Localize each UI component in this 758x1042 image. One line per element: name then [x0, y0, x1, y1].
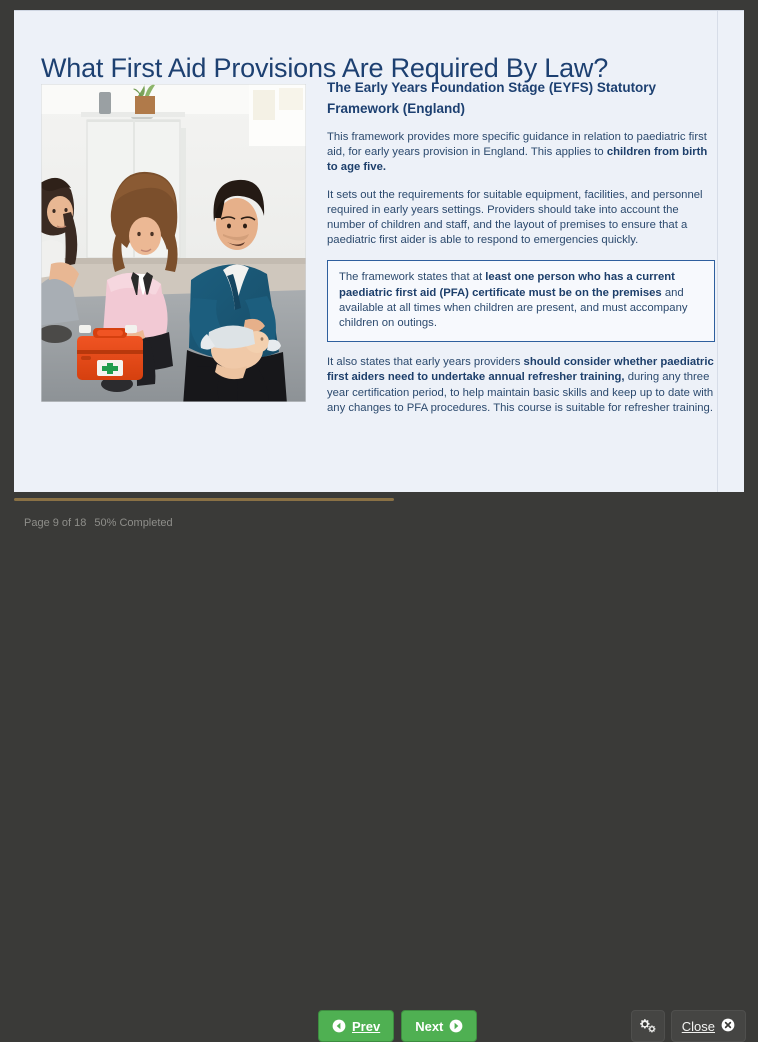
section-subheading: The Early Years Foundation Stage (EYFS) …: [327, 77, 715, 119]
player-control-bar: Page 9 of 1850% Completed Prev Next: [0, 503, 758, 560]
course-progress-bar: [14, 498, 744, 501]
callout-text: The framework states that at least one p…: [339, 270, 703, 331]
text-column: The Early Years Foundation Stage (EYFS) …: [327, 77, 715, 428]
prev-button[interactable]: Prev: [318, 1010, 394, 1042]
navigation-buttons: Prev Next: [318, 1010, 477, 1042]
paragraph-2: It sets out the requirements for suitabl…: [327, 188, 715, 249]
paragraph-1: This framework provides more specific gu…: [327, 130, 715, 176]
paragraph-3: It also states that early years provider…: [327, 355, 715, 416]
callout-text-lead: The framework states that at: [339, 271, 485, 283]
arrow-circle-right-icon: [449, 1019, 463, 1033]
course-player-frame: What First Aid Provisions Are Required B…: [0, 0, 758, 560]
page-number-label: Page 9 of 18: [24, 517, 86, 529]
next-button[interactable]: Next: [401, 1010, 477, 1042]
page-status: Page 9 of 1850% Completed: [24, 517, 173, 529]
close-button[interactable]: Close: [671, 1010, 746, 1042]
next-button-label: Next: [415, 1019, 443, 1034]
first-aid-training-photo: [41, 84, 306, 402]
slide-inner: What First Aid Provisions Are Required B…: [14, 11, 730, 492]
course-progress-fill: [14, 498, 394, 501]
close-circle-icon: [721, 1018, 735, 1035]
slide-content-area: What First Aid Provisions Are Required B…: [14, 10, 744, 492]
player-tool-buttons: Close: [631, 1010, 746, 1042]
completion-label: 50% Completed: [94, 517, 172, 529]
settings-button[interactable]: [631, 1010, 665, 1042]
close-button-label: Close: [682, 1019, 715, 1034]
callout-box: The framework states that at least one p…: [327, 260, 715, 342]
paragraph-3-lead: It also states that early years provider…: [327, 356, 524, 368]
prev-button-label: Prev: [352, 1019, 380, 1034]
cogs-icon: [638, 1017, 657, 1036]
slide-body: The Early Years Foundation Stage (EYFS) …: [41, 77, 715, 417]
arrow-circle-left-icon: [332, 1019, 346, 1033]
slide-scrollbar[interactable]: [717, 11, 730, 492]
